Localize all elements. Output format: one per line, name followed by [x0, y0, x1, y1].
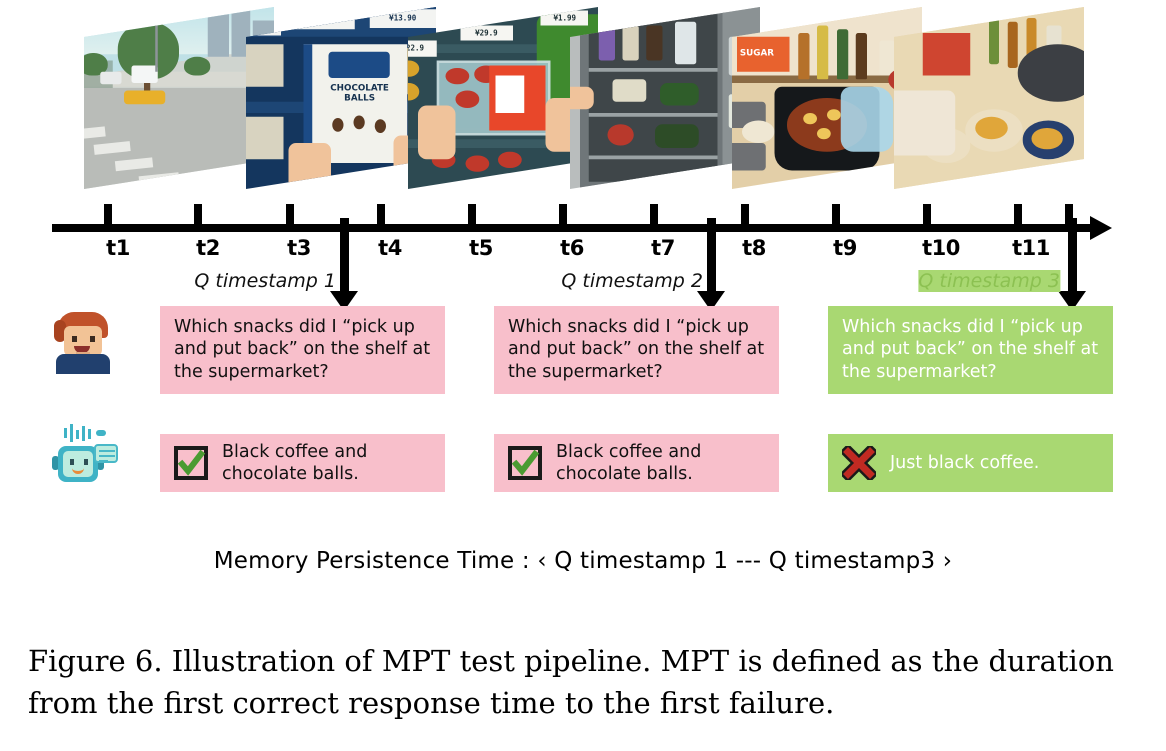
- timeline-label-t9: t9: [833, 236, 857, 260]
- question-box-3: Which snacks did I “pick up and put back…: [828, 306, 1113, 394]
- timeline-label-t4: t4: [378, 236, 402, 260]
- timeline-label-t3: t3: [287, 236, 311, 260]
- filmstrip-panel-dining-table: [894, 7, 1084, 189]
- timeline-label-t1: t1: [106, 236, 130, 260]
- answer-box-1: Black coffee and chocolate balls.: [160, 434, 445, 492]
- timeline-tick: [194, 204, 202, 226]
- timeline-label-t11: t11: [1012, 236, 1050, 260]
- timeline-label-t6: t6: [560, 236, 584, 260]
- robot-avatar: [52, 424, 118, 486]
- check-icon: [508, 446, 542, 480]
- cross-icon: [842, 446, 876, 480]
- timeline-tick: [286, 204, 294, 226]
- timeline-tick: [1014, 204, 1022, 226]
- timeline-tick: [650, 204, 658, 226]
- mpt-summary-line: Memory Persistence Time : ‹ Q timestamp …: [0, 548, 1166, 574]
- timeline-label-t10: t10: [922, 236, 960, 260]
- answer-text-1: Black coffee and chocolate balls.: [222, 441, 431, 486]
- question-box-2: Which snacks did I “pick up and put back…: [494, 306, 779, 394]
- timeline-tick: [832, 204, 840, 226]
- q-marker-label-2: Q timestamp 2: [561, 270, 703, 292]
- q-marker-arrow-2: [707, 218, 716, 292]
- figure-caption: Figure 6. Illustration of MPT test pipel…: [28, 640, 1138, 724]
- qa-section: Which snacks did I “pick up and put back…: [0, 306, 1166, 521]
- answer-text-3: Just black coffee.: [890, 452, 1039, 474]
- timeline-label-t7: t7: [651, 236, 675, 260]
- q-marker-label-3: Q timestamp 3: [918, 270, 1060, 292]
- timeline-label-t5: t5: [469, 236, 493, 260]
- timeline-tick: [923, 204, 931, 226]
- timeline-arrow-head: [1090, 216, 1112, 240]
- filmstrip: 4.9元 ¥12.90 ¥13.90 CHOCOLATEBALLS: [0, 0, 1166, 195]
- timeline-tick: [741, 204, 749, 226]
- timeline-tick: [468, 204, 476, 226]
- answer-box-3: Just black coffee.: [828, 434, 1113, 492]
- timeline-tick: [104, 204, 112, 226]
- timeline-label-t8: t8: [742, 236, 766, 260]
- user-avatar: [52, 312, 114, 374]
- q-marker-arrow-3: [1068, 218, 1077, 292]
- timeline: t1 t2 t3 t4 t5 t6 t7 t8 t9 t10 t11 Q tim…: [0, 196, 1166, 316]
- answer-box-2: Black coffee and chocolate balls.: [494, 434, 779, 492]
- answer-text-2: Black coffee and chocolate balls.: [556, 441, 765, 486]
- q-marker-label-1: Q timestamp 1: [194, 270, 336, 292]
- timeline-axis: [52, 224, 1098, 232]
- timeline-tick: [377, 204, 385, 226]
- q-marker-arrow-1: [340, 218, 349, 292]
- question-box-1: Which snacks did I “pick up and put back…: [160, 306, 445, 394]
- timeline-tick: [559, 204, 567, 226]
- check-icon: [174, 446, 208, 480]
- timeline-label-t2: t2: [196, 236, 220, 260]
